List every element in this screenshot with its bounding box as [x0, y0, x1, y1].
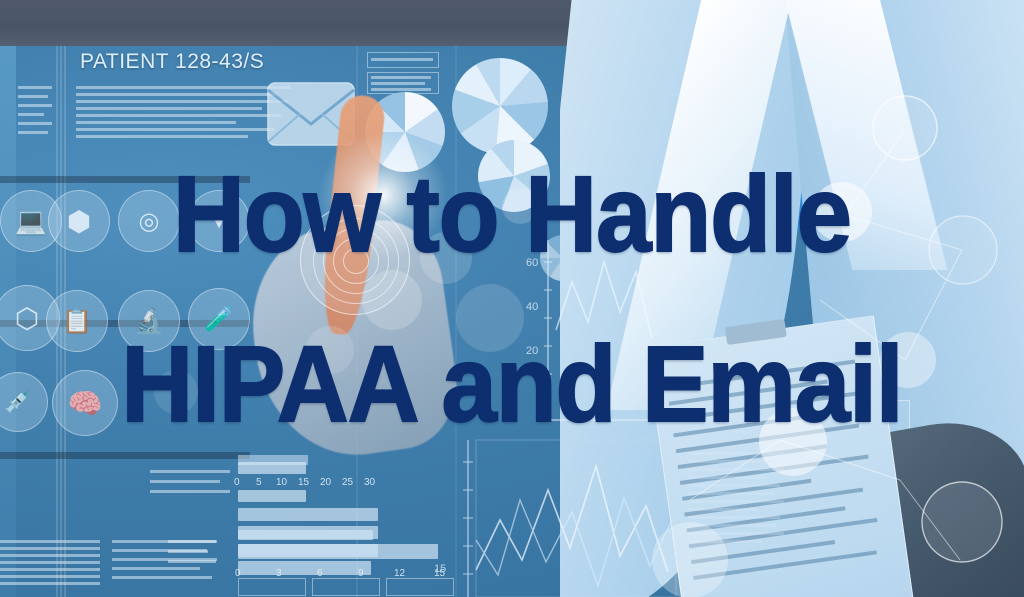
bokeh-circles [0, 0, 1024, 597]
banner-canvas: PATIENT 128-43/S 💻 ⬢ ◎ ▼ ⬡ 📋 🔬 🧪 💉 [0, 0, 1024, 597]
